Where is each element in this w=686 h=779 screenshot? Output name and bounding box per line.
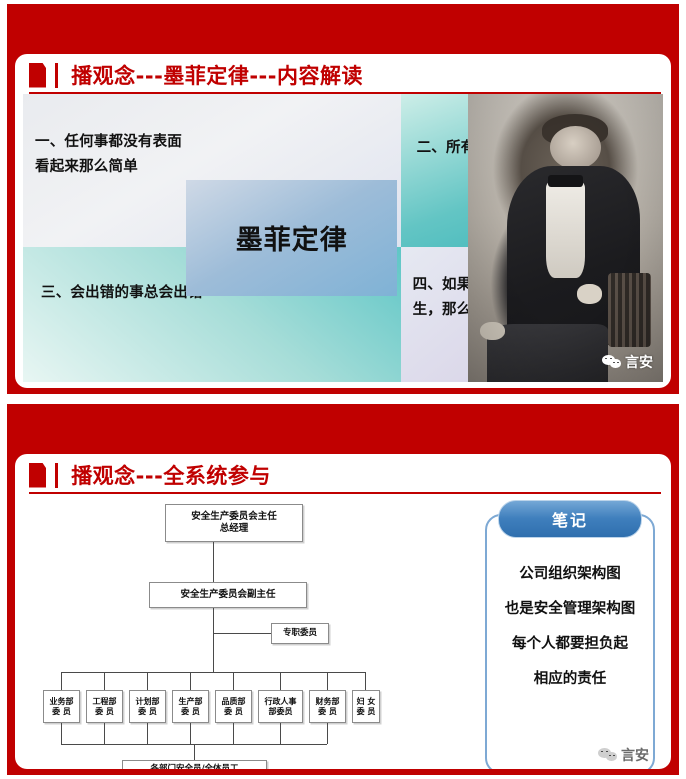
- org-tail-4: [190, 723, 191, 744]
- dept-2-line2: 委 员: [138, 707, 157, 717]
- org-node-director-line2: 总经理: [220, 523, 249, 535]
- slide2-title-row: 播观念---全系统参与: [15, 454, 671, 494]
- org-link-deputy-down: [213, 608, 214, 672]
- org-bus-top: [61, 672, 365, 673]
- org-node-deputy-director: 安全生产委员会副主任: [149, 582, 307, 608]
- red-flag-icon: [29, 463, 46, 488]
- dept-0-line2: 委 员: [52, 707, 71, 717]
- page-title: 播观念---墨菲定律---内容解读: [71, 60, 363, 90]
- dept-4-line1: 品质部: [222, 697, 246, 707]
- org-node-all-staff: 各部门安全员/全体员工: [122, 760, 267, 769]
- dept-5-line2: 部委员: [269, 707, 293, 717]
- org-node-director-line1: 安全生产委员会主任: [191, 511, 277, 523]
- slide-card: 播观念---墨菲定律---内容解读 一、任何事都没有表面 看起来那么简单 二、所…: [15, 54, 671, 388]
- watermark-slide1: 言安: [602, 352, 653, 372]
- org-tail-3: [147, 723, 148, 744]
- dept-6-line1: 财务部: [316, 697, 340, 707]
- title-divider-bar: [55, 463, 58, 488]
- dept-3-line1: 生产部: [179, 697, 203, 707]
- dept-7-line2: 委 员: [357, 707, 376, 717]
- dept-4-line2: 委 员: [224, 707, 243, 717]
- title-underline: [29, 492, 661, 494]
- note-line-3: 每个人都要担负起: [512, 632, 628, 653]
- note-panel: 笔记 公司组织架构图 也是安全管理架构图 每个人都要担负起 相应的责任: [485, 514, 655, 769]
- org-node-fulltime-member: 专职委员: [271, 623, 329, 644]
- note-caption-badge: 笔记: [498, 500, 642, 538]
- dept-0-line1: 业务部: [50, 697, 74, 707]
- org-tail-7: [327, 723, 328, 744]
- note-line-2: 也是安全管理架构图: [505, 597, 636, 618]
- center-keyword-box: 墨菲定律: [186, 180, 397, 295]
- wechat-icon: [602, 355, 622, 370]
- org-chart: 安全生产委员会主任 总经理 安全生产委员会副主任 专职委员: [37, 504, 467, 769]
- dept-7-line1: 妇 女: [357, 697, 376, 707]
- note-line-1: 公司组织架构图: [519, 562, 621, 583]
- org-node-department: 工程部 委 员: [86, 690, 123, 723]
- portrait-vignette: [468, 94, 663, 382]
- slide-card: 播观念---全系统参与 安全生产委员会主任 总经理 安全生产委员会副主任: [15, 454, 671, 769]
- org-link-to-all-staff: [194, 744, 195, 760]
- org-drop-6: [280, 672, 281, 690]
- quadrant-one-line1: 一、任何事都没有表面: [35, 130, 182, 155]
- org-drop-7: [327, 672, 328, 690]
- org-tail-2: [104, 723, 105, 744]
- watermark-slide2: 言安: [598, 745, 649, 765]
- org-node-fulltime-member-label: 专职委员: [283, 628, 317, 639]
- org-tail-5: [233, 723, 234, 744]
- slide-murphys-law: 播观念---墨菲定律---内容解读 一、任何事都没有表面 看起来那么简单 二、所…: [7, 4, 679, 394]
- slide2-body: 安全生产委员会主任 总经理 安全生产委员会副主任 专职委员: [15, 496, 671, 769]
- mark-twain-portrait-photo: 言安: [468, 94, 663, 382]
- red-flag-icon: [29, 63, 46, 88]
- slide1-title-row: 播观念---墨菲定律---内容解读: [15, 54, 671, 94]
- org-drop-2: [104, 672, 105, 690]
- org-tail-1: [61, 723, 62, 744]
- quadrant-three-text: 三、会出错的事总会出错: [41, 281, 203, 306]
- org-link-director-to-deputy: [213, 542, 214, 582]
- note-body: 公司组织架构图 也是安全管理架构图 每个人都要担负起 相应的责任: [495, 562, 645, 688]
- dept-1-line1: 工程部: [93, 697, 117, 707]
- dept-6-line2: 委 员: [318, 707, 337, 717]
- org-node-department: 行政人事 部委员: [258, 690, 303, 723]
- dept-1-line2: 委 员: [95, 707, 114, 717]
- page-title: 播观念---全系统参与: [71, 460, 271, 490]
- quadrant-one-text: 一、任何事都没有表面 看起来那么简单: [35, 130, 182, 181]
- watermark-label: 言安: [625, 352, 653, 372]
- dept-3-line2: 委 员: [181, 707, 200, 717]
- org-node-department: 财务部 委 员: [309, 690, 346, 723]
- org-node-department: 生产部 委 员: [172, 690, 209, 723]
- org-drop-4: [190, 672, 191, 690]
- dept-5-line1: 行政人事: [265, 697, 297, 707]
- org-drop-1: [61, 672, 62, 690]
- note-line-4: 相应的责任: [534, 667, 607, 688]
- org-drop-5: [233, 672, 234, 690]
- org-node-deputy-director-label: 安全生产委员会副主任: [180, 589, 275, 601]
- quadrant-one-line2: 看起来那么简单: [35, 155, 182, 180]
- center-keyword-label: 墨菲定律: [236, 218, 348, 257]
- org-node-department: 业务部 委 员: [43, 690, 80, 723]
- org-node-department: 计划部 委 员: [129, 690, 166, 723]
- org-node-all-staff-label: 各部门安全员/全体员工: [150, 764, 238, 769]
- watermark-label: 言安: [621, 745, 649, 765]
- title-divider-bar: [55, 63, 58, 88]
- org-drop-3: [147, 672, 148, 690]
- org-drop-8: [365, 672, 366, 690]
- wechat-icon: [598, 748, 618, 763]
- dept-2-line1: 计划部: [136, 697, 160, 707]
- org-tail-6: [280, 723, 281, 744]
- note-caption-label: 笔记: [552, 507, 588, 531]
- org-node-department: 品质部 委 员: [215, 690, 252, 723]
- slide-deck: 播观念---墨菲定律---内容解读 一、任何事都没有表面 看起来那么简单 二、所…: [0, 0, 686, 779]
- org-link-to-fulltime-member: [213, 633, 271, 634]
- murphy-quadrant-grid: 一、任何事都没有表面 看起来那么简单 二、所有的事都会比你 预计的时间长 三、会…: [23, 94, 663, 382]
- quadrant-three-line1: 三、会出错的事总会出错: [41, 281, 203, 306]
- org-node-department: 妇 女 委 员: [352, 690, 380, 723]
- slide-full-system-participation: 播观念---全系统参与 安全生产委员会主任 总经理 安全生产委员会副主任: [7, 404, 679, 775]
- org-node-director: 安全生产委员会主任 总经理: [165, 504, 303, 542]
